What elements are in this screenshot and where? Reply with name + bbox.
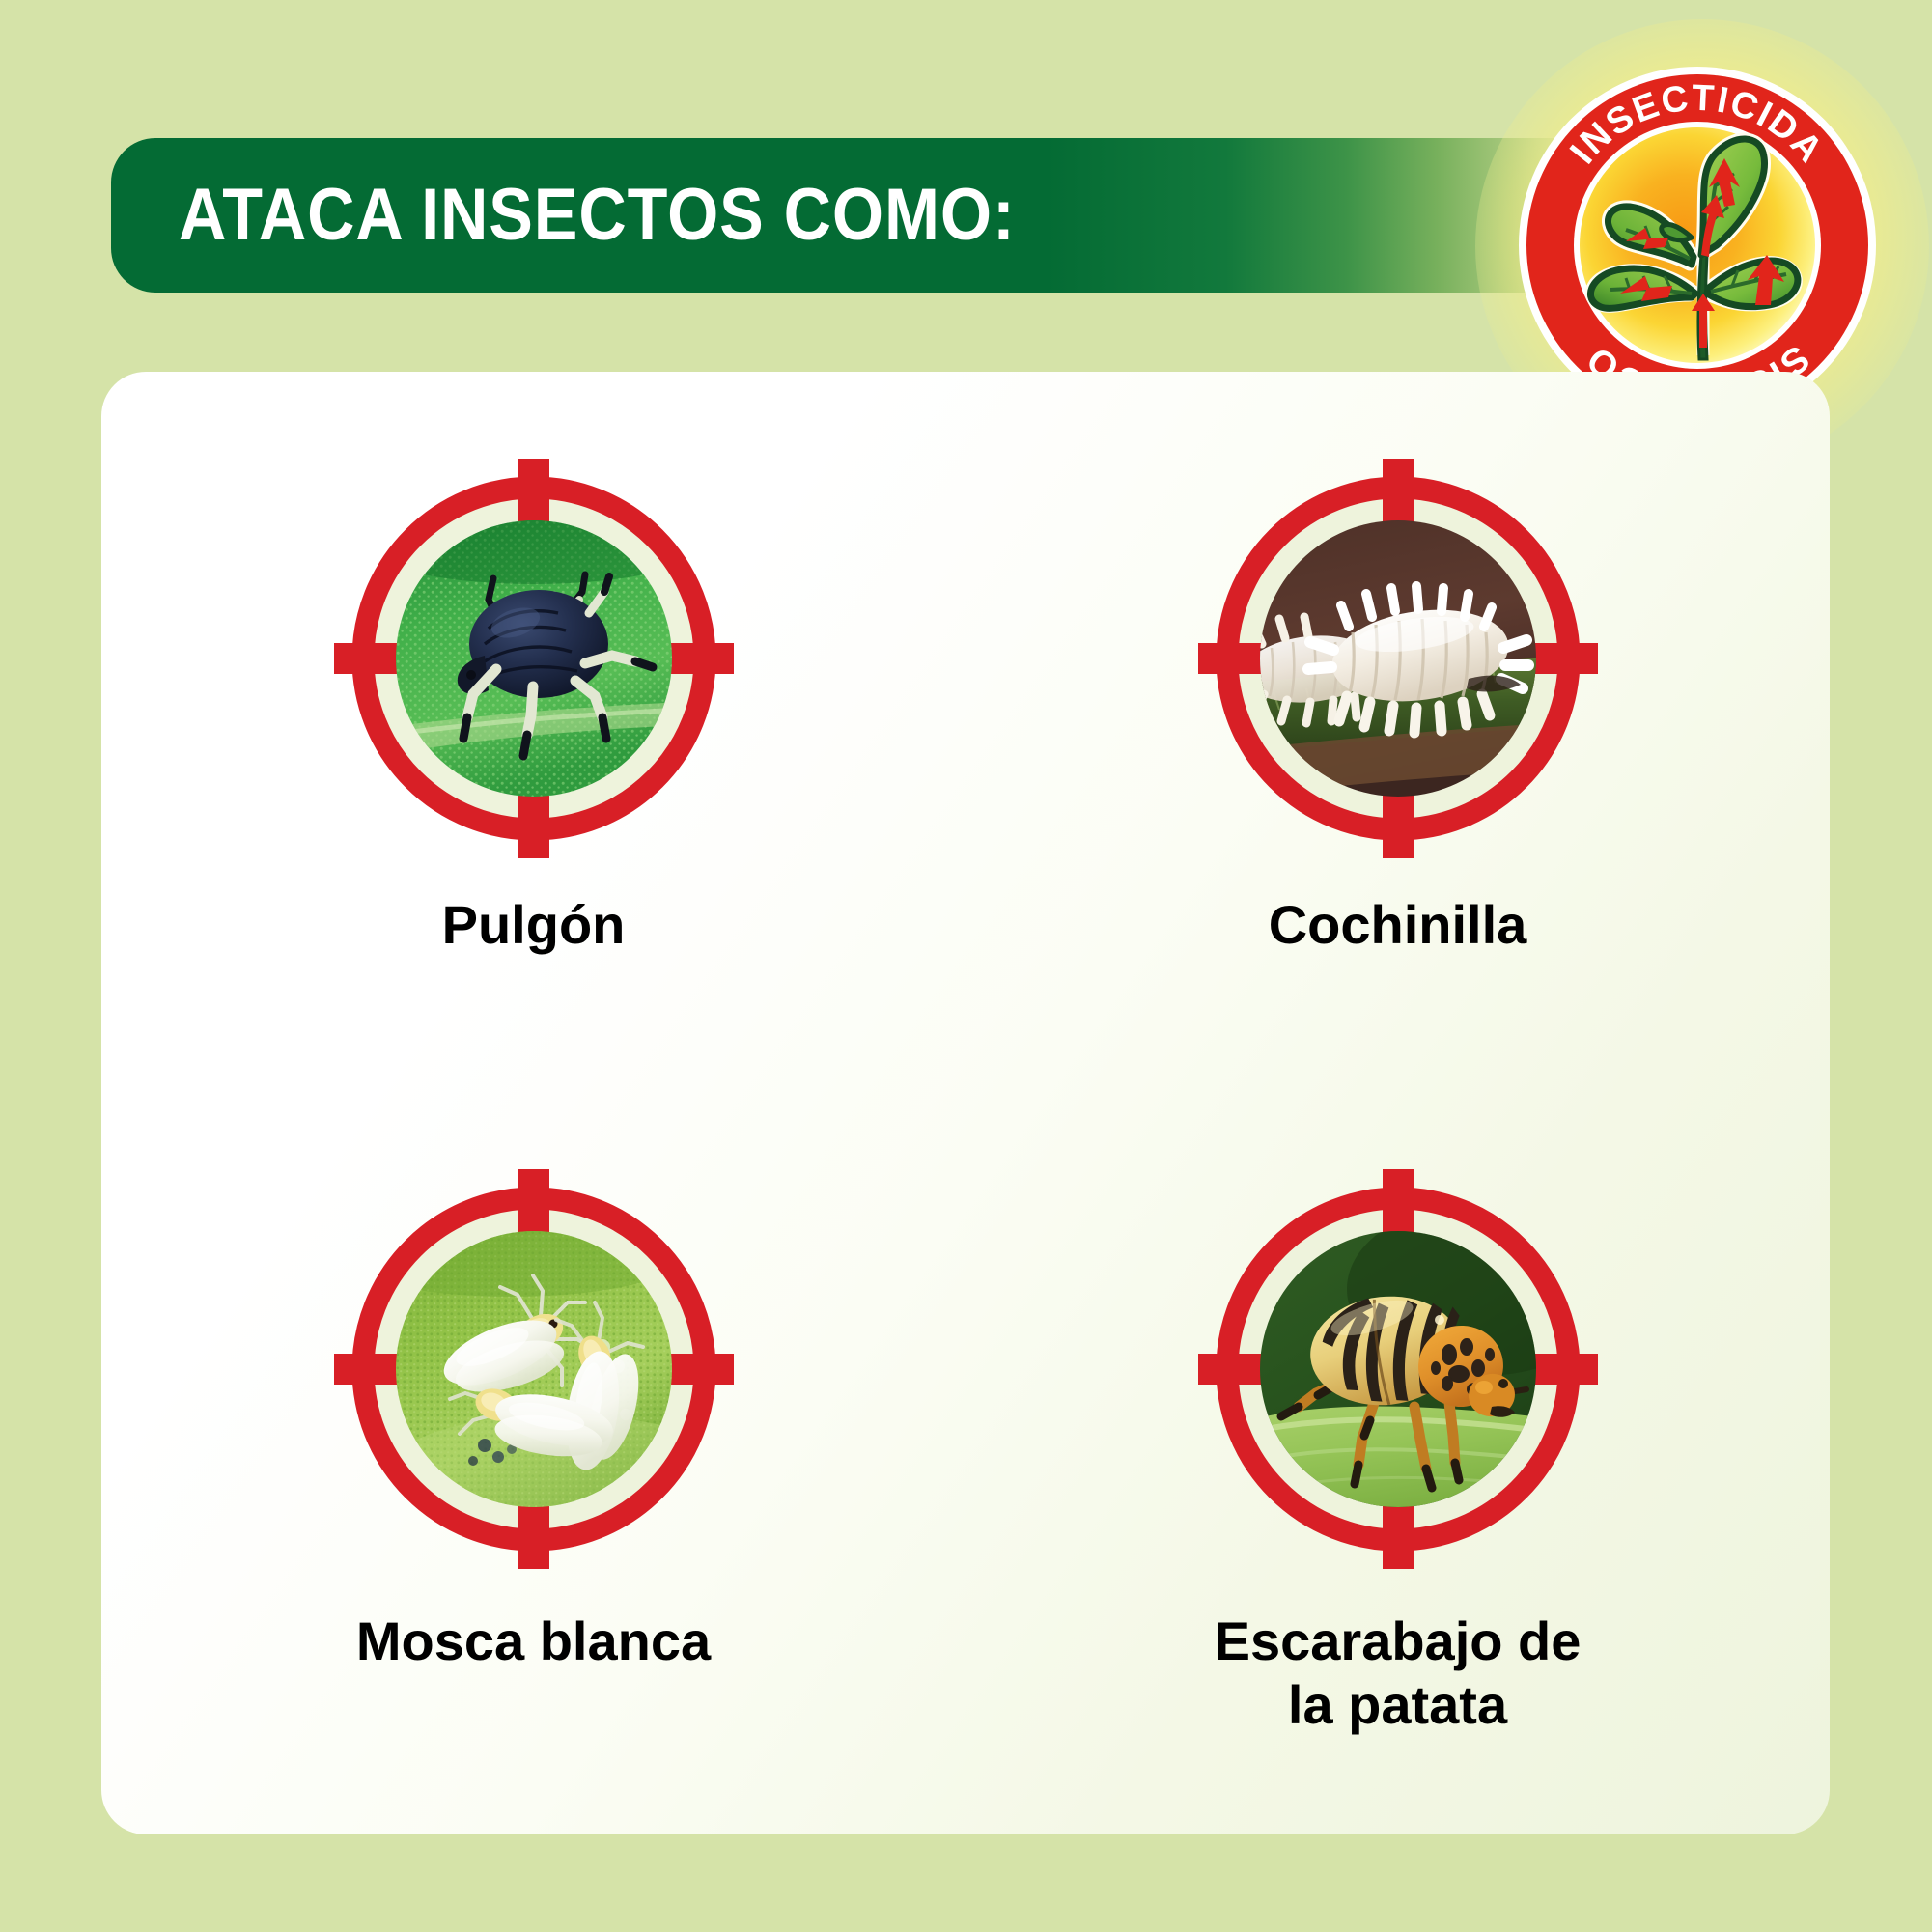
pest-grid: Pulgón (101, 372, 1830, 1834)
target-reticle-pulgon (332, 457, 736, 860)
pest-label: Cochinilla (1269, 893, 1527, 957)
target-reticle-mosca-blanca (332, 1167, 736, 1571)
pest-item-mosca-blanca: Mosca blanca (101, 1104, 966, 1835)
pest-label: Escarabajo de la patata (1215, 1610, 1582, 1737)
pest-label: Pulgón (442, 893, 626, 957)
target-reticle-escarabajo-patata (1196, 1167, 1600, 1571)
colorado-potato-beetle-photo (1260, 1231, 1536, 1507)
pest-item-pulgon: Pulgón (101, 372, 966, 1104)
target-reticle-cochinilla (1196, 457, 1600, 860)
mealybug-photo (1260, 520, 1536, 797)
pest-label: Mosca blanca (356, 1610, 711, 1673)
whitefly-photo (396, 1231, 672, 1507)
pest-item-cochinilla: Cochinilla (966, 372, 1830, 1104)
pest-item-escarabajo-patata: Escarabajo de la patata (966, 1104, 1830, 1835)
aphid-photo (396, 520, 672, 797)
page-title: ATACA INSECTOS COMO: (179, 167, 1016, 264)
